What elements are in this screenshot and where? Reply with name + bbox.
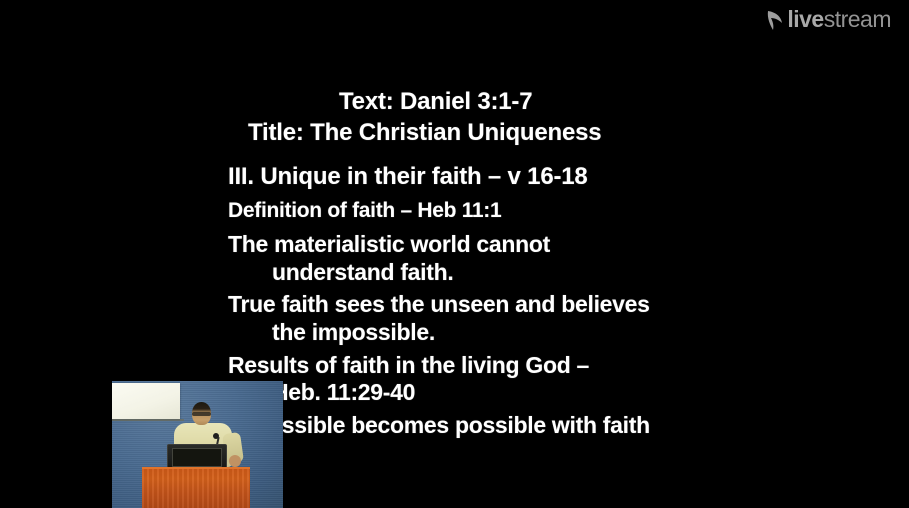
speaker-hand <box>229 455 241 467</box>
speaker-glasses <box>192 412 211 416</box>
laptop-screen <box>172 448 222 467</box>
slide-line-results-2: Heb. 11:29-40 <box>272 379 415 406</box>
slide-line-impossible: Impossible becomes possible with faith <box>228 412 650 439</box>
video-player-stage: livestream Text: Daniel 3:1-7 Title: The… <box>0 0 909 508</box>
slide-line-materialistic-2: understand faith. <box>272 259 453 286</box>
podium <box>142 469 250 508</box>
slide-line-true-faith-1: True faith sees the unseen and believes <box>228 291 650 318</box>
microphone-head <box>213 433 219 439</box>
slide-line-definition: Definition of faith – Heb 11:1 <box>228 199 501 223</box>
slide-line-results-1: Results of faith in the living God – <box>228 352 589 379</box>
slide-line-scripture-text: Text: Daniel 3:1-7 <box>339 88 532 116</box>
projection-screen <box>112 383 180 419</box>
slide-line-sermon-title: Title: The Christian Uniqueness <box>248 119 601 147</box>
slide-line-materialistic-1: The materialistic world cannot <box>228 231 550 258</box>
slide-line-true-faith-2: the impossible. <box>272 319 435 346</box>
slide-line-point-three: III. Unique in their faith – v 16-18 <box>228 163 588 191</box>
projection-screen-frame <box>112 419 184 421</box>
speaker-video-inset[interactable] <box>112 381 283 508</box>
